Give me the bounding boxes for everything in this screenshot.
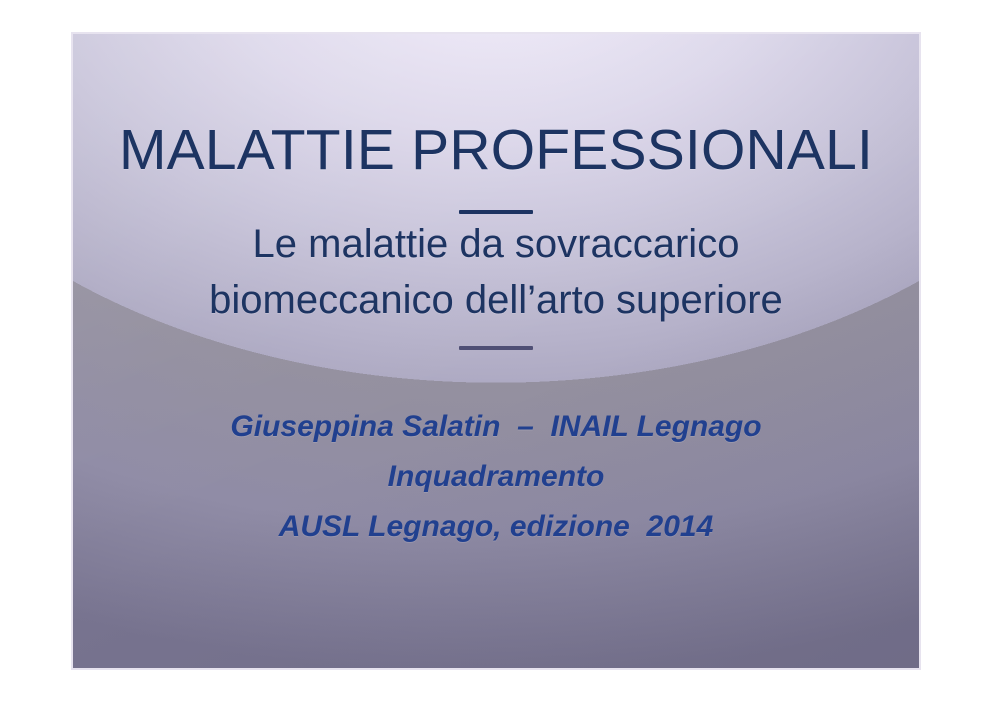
slide-content: MALATTIE PROFESSIONALI Le malattie da so…: [73, 34, 919, 668]
byline-author: Giuseppina Salatin – INAIL Legnago: [73, 402, 919, 452]
presentation-slide: MALATTIE PROFESSIONALI Le malattie da so…: [71, 32, 921, 670]
subtitle-line-1: Le malattie da sovraccarico: [73, 216, 919, 272]
divider-rule-top: [459, 210, 533, 214]
byline-topic: Inquadramento: [73, 452, 919, 502]
slide-subtitle: Le malattie da sovraccarico biomeccanico…: [73, 216, 919, 328]
slide-byline: Giuseppina Salatin – INAIL Legnago Inqua…: [73, 402, 919, 552]
subtitle-line-2: biomeccanico dell’arto superiore: [73, 272, 919, 328]
slide-canvas: MALATTIE PROFESSIONALI Le malattie da so…: [0, 0, 992, 701]
byline-event: AUSL Legnago, edizione 2014: [73, 502, 919, 552]
slide-title: MALATTIE PROFESSIONALI: [73, 122, 919, 179]
divider-rule-bottom: [459, 346, 533, 350]
